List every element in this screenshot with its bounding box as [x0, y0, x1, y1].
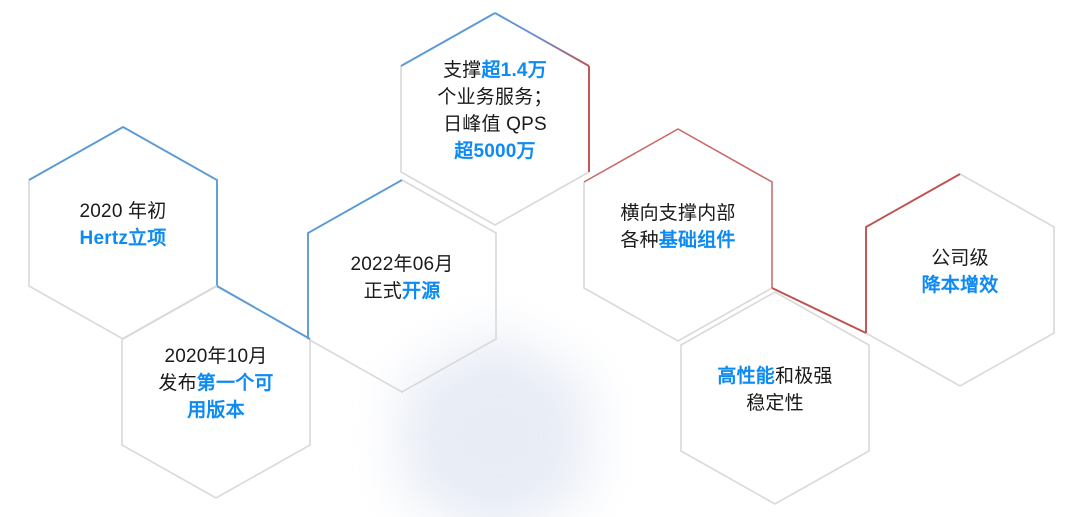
hexagon-label-node-1: 2020 年初 Hertz立项	[23, 199, 223, 253]
label-line: 日峰值 QPS	[395, 112, 595, 139]
label-line: 稳定性	[675, 391, 875, 418]
label-line: 2022年06月	[302, 252, 502, 279]
label-line: 用版本	[116, 398, 316, 425]
label-line: 各种基础组件	[578, 228, 778, 255]
label-line: Hertz立项	[23, 226, 223, 253]
hexagon-label-node-3: 2022年06月 正式开源	[302, 252, 502, 306]
label-line: 2020 年初	[23, 199, 223, 226]
label-line: 个业务服务；	[395, 85, 595, 112]
hexagon-label-node-2: 2020年10月 发布第一个可 用版本	[116, 344, 316, 425]
label-line: 支撑超1.4万	[395, 58, 595, 85]
label-line: 发布第一个可	[116, 371, 316, 398]
hexagon-label-node-6: 高性能和极强 稳定性	[675, 364, 875, 418]
label-line: 超5000万	[395, 139, 595, 166]
connector-node5-node7	[772, 288, 866, 333]
label-line: 横向支撑内部	[578, 201, 778, 228]
connector-node1-node3	[217, 286, 310, 339]
label-line: 降本增效	[860, 273, 1060, 300]
hexagon-label-node-5: 横向支撑内部 各种基础组件	[578, 201, 778, 255]
label-line: 2020年10月	[116, 344, 316, 371]
label-line: 正式开源	[302, 279, 502, 306]
hexagon-label-node-4: 支撑超1.4万 个业务服务； 日峰值 QPS 超5000万	[395, 58, 595, 166]
background-hexagon-glow	[401, 330, 589, 517]
hexagon-timeline-diagram: 2020 年初 Hertz立项 2020年10月 发布第一个可 用版本 2022…	[0, 0, 1080, 517]
hexagon-label-node-7: 公司级 降本增效	[860, 246, 1060, 300]
label-line: 高性能和极强	[675, 364, 875, 391]
label-line: 公司级	[860, 246, 1060, 273]
